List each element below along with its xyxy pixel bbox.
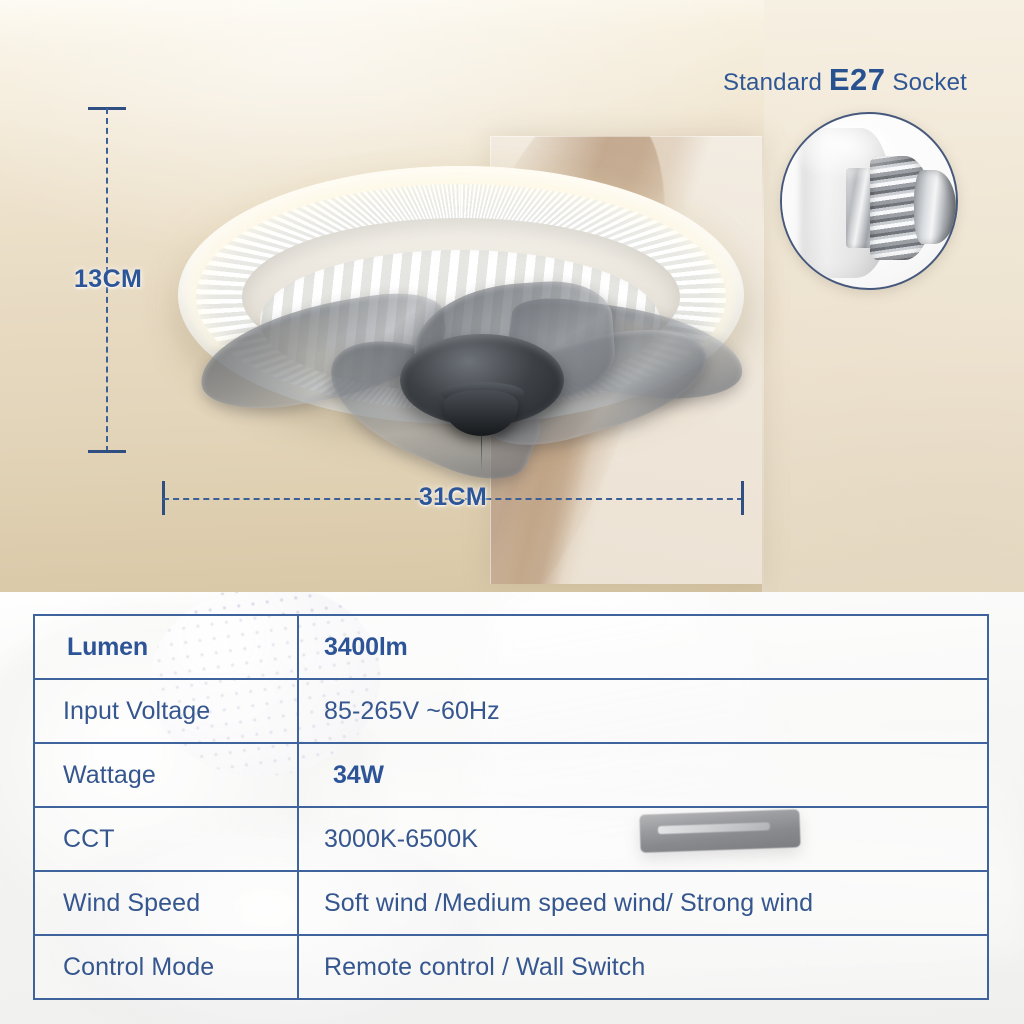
spec-value: 3000K-6500K	[299, 808, 987, 870]
spec-key: Wind Speed	[35, 872, 299, 934]
product-photo-scene: 13CM 31CM Standard E27 Socket	[0, 0, 1024, 592]
socket-title-suffix: Socket	[892, 69, 967, 96]
socket-callout-title: Standard E27 Socket	[690, 62, 1000, 98]
socket-highlight	[796, 122, 916, 182]
wall-corner-line	[762, 136, 764, 592]
socket-title-strong: E27	[829, 62, 886, 97]
spec-value: Remote control / Wall Switch	[299, 936, 987, 998]
table-row: Wattage 34W	[35, 744, 987, 808]
spec-key: Input Voltage	[35, 680, 299, 742]
table-row: Control Mode Remote control / Wall Switc…	[35, 936, 987, 998]
infographic-canvas: 13CM 31CM Standard E27 Socket	[0, 0, 1024, 1024]
height-dimension-label: 13CM	[74, 265, 142, 294]
socket-contact-tip	[914, 170, 956, 244]
spec-value: 85-265V ~60Hz	[299, 680, 987, 742]
spec-value: 3400lm	[299, 616, 987, 678]
table-row: Lumen 3400lm	[35, 616, 987, 680]
width-dimension-label: 31CM	[412, 483, 494, 512]
spec-key: Control Mode	[35, 936, 299, 998]
spec-key: Lumen	[35, 616, 299, 678]
height-dimension-cap-bottom	[88, 450, 126, 453]
spec-key: Wattage	[35, 744, 299, 806]
e27-bulb-socket-icon	[780, 112, 958, 290]
spec-value: 34W	[299, 744, 987, 806]
specification-table: Lumen 3400lm Input Voltage 85-265V ~60Hz…	[33, 614, 989, 1000]
table-row: CCT 3000K-6500K	[35, 808, 987, 872]
spec-value: Soft wind /Medium speed wind/ Strong win…	[299, 872, 987, 934]
socket-title-prefix: Standard	[723, 69, 822, 96]
ceiling-fan-product	[178, 158, 744, 488]
table-row: Wind Speed Soft wind /Medium speed wind/…	[35, 872, 987, 936]
table-row: Input Voltage 85-265V ~60Hz	[35, 680, 987, 744]
spec-key: CCT	[35, 808, 299, 870]
fan-pull-cord	[481, 434, 482, 472]
